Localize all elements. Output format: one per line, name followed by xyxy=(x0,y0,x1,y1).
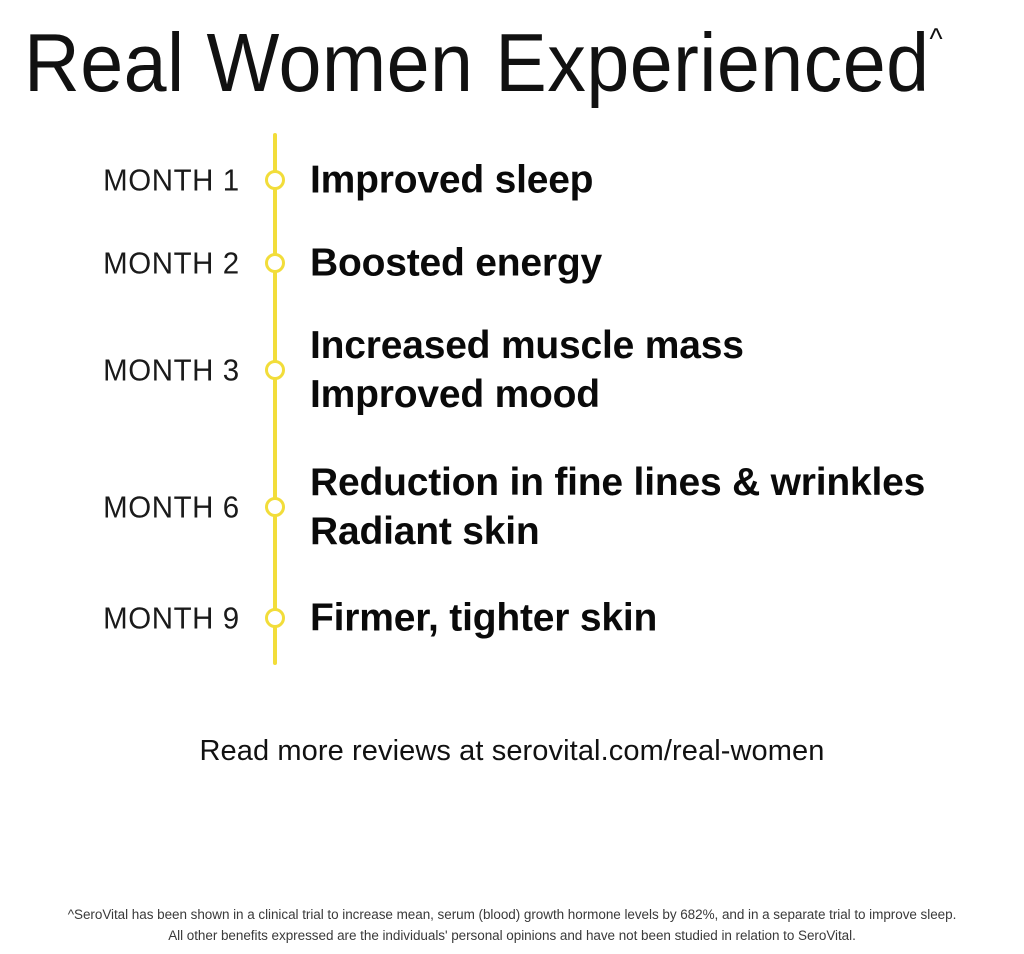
benefit-text: Firmer, tighter skin xyxy=(310,594,657,643)
benefit-text: Boosted energy xyxy=(310,239,602,288)
timeline-marker-icon xyxy=(265,253,285,273)
benefit-text: Reduction in fine lines & wrinkles xyxy=(310,458,925,507)
timeline-benefit-group: Increased muscle mass Improved mood xyxy=(310,321,744,419)
benefits-timeline: MONTH 1 Improved sleep MONTH 2 Boosted e… xyxy=(0,120,1024,680)
footnote-line: ^SeroVital has been shown in a clinical … xyxy=(0,904,1024,925)
reviews-link-text[interactable]: Read more reviews at serovital.com/real-… xyxy=(0,735,1024,768)
benefit-text: Increased muscle mass xyxy=(310,321,744,370)
page-title: Real Women Experienced^ xyxy=(24,0,943,109)
timeline-benefit-group: Boosted energy xyxy=(310,239,602,288)
footnote-line: All other benefits expressed are the ind… xyxy=(0,925,1024,946)
timeline-marker-icon xyxy=(265,360,285,380)
timeline-axis-line xyxy=(273,133,277,665)
timeline-marker-icon xyxy=(265,497,285,517)
timeline-benefit-group: Reduction in fine lines & wrinkles Radia… xyxy=(310,458,925,556)
timeline-month-label: MONTH 2 xyxy=(103,248,240,279)
timeline-marker-icon xyxy=(265,170,285,190)
title-footnote-marker: ^ xyxy=(930,23,943,56)
timeline-month-label: MONTH 3 xyxy=(103,355,240,386)
benefit-text: Improved sleep xyxy=(310,156,593,205)
timeline-month-label: MONTH 6 xyxy=(103,492,240,523)
timeline-month-label: MONTH 1 xyxy=(103,165,240,196)
timeline-marker-icon xyxy=(265,608,285,628)
timeline-month-label: MONTH 9 xyxy=(103,603,240,634)
title-block: Real Women Experienced^ xyxy=(24,0,1014,86)
page-title-text: Real Women Experienced xyxy=(24,16,930,109)
footnote-block: ^SeroVital has been shown in a clinical … xyxy=(0,904,1024,946)
benefit-text: Radiant skin xyxy=(310,507,925,556)
timeline-benefit-group: Firmer, tighter skin xyxy=(310,594,657,643)
timeline-benefit-group: Improved sleep xyxy=(310,156,593,205)
benefit-text: Improved mood xyxy=(310,370,744,419)
